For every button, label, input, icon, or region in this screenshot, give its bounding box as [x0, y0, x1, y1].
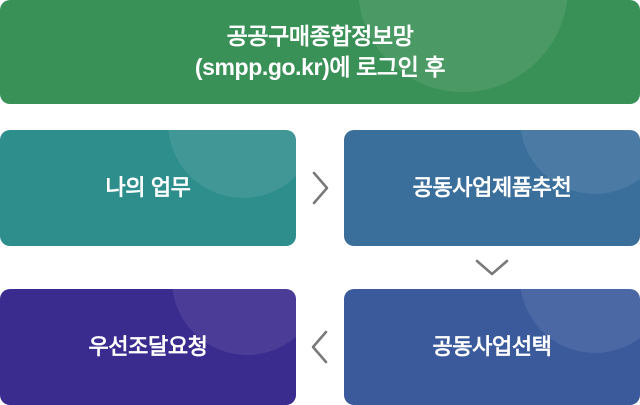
- step-card-joint-business-selection: 공동사업선택: [344, 289, 640, 405]
- step-card-joint-product-recommendation-label: 공동사업제품추천: [413, 173, 572, 203]
- step-card-joint-business-selection-label: 공동사업선택: [432, 332, 551, 362]
- step-card-login-label: 공공구매종합정보망 (smpp.go.kr)에 로그인 후: [195, 21, 445, 83]
- chevron-right-icon: [303, 165, 337, 211]
- chevron-left-icon: [303, 324, 337, 370]
- step-card-login: 공공구매종합정보망 (smpp.go.kr)에 로그인 후: [0, 0, 640, 104]
- step-card-priority-procurement-request-label: 우선조달요청: [88, 332, 207, 362]
- step-card-joint-product-recommendation: 공동사업제품추천: [344, 130, 640, 246]
- chevron-down-icon: [470, 252, 514, 282]
- process-flow-diagram: 공공구매종합정보망 (smpp.go.kr)에 로그인 후 나의 업무 공동사업…: [0, 0, 640, 405]
- step-card-my-work-label: 나의 업무: [105, 173, 190, 203]
- step-card-priority-procurement-request: 우선조달요청: [0, 289, 296, 405]
- step-card-my-work: 나의 업무: [0, 130, 296, 246]
